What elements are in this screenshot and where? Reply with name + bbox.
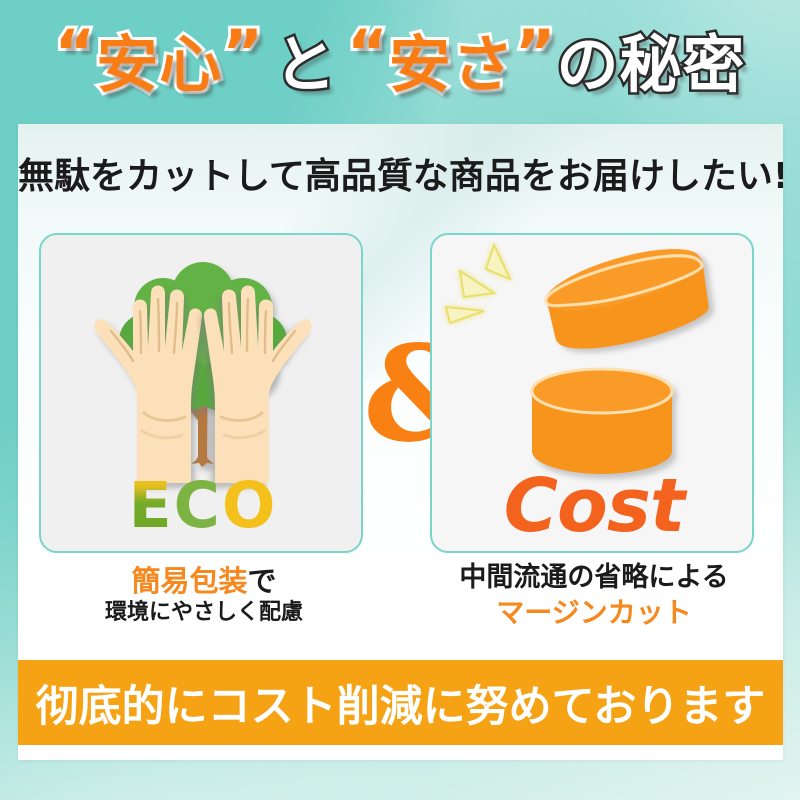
headline-close-quote-2: ” — [515, 22, 557, 84]
headline-tail: の秘密 — [557, 34, 746, 96]
headline-open-quote-2: “ — [347, 22, 389, 84]
coin-stack-icon — [432, 239, 756, 489]
cost-wordmark: Cost — [432, 469, 756, 543]
panel-title: 無駄をカットして高品質な商品をお届けしたい! — [18, 147, 783, 199]
eco-caption-line1: 簡易包装で — [24, 564, 384, 599]
eco-caption-highlight: 簡易包装 — [131, 564, 247, 598]
ampersand-separator: & — [363, 329, 439, 461]
eco-wordmark: ECO — [41, 474, 365, 537]
eco-letter-e: E — [129, 469, 174, 542]
feature-cards: ECO & — [18, 233, 783, 553]
bottom-banner: 彻底的にコスト削減に努めております — [18, 660, 783, 745]
eco-caption-line2: 環境にやさしく配慮 — [24, 599, 384, 628]
headline-word-anshin: 安心 — [96, 34, 222, 96]
eco-card: ECO — [39, 233, 363, 553]
cost-caption-line1: 中間流通の省略による — [414, 562, 774, 595]
headline-conjunction: と — [274, 34, 337, 96]
cost-caption: 中間流通の省略による マージンカット — [414, 562, 774, 631]
cost-caption-line2: マージンカット — [414, 595, 774, 631]
headline-open-quote-1: “ — [54, 22, 96, 84]
headline-close-quote-1: ” — [222, 22, 264, 84]
eco-letter-o: O — [222, 469, 278, 542]
bottom-banner-text: 彻底的にコスト削減に努めております — [36, 672, 766, 734]
headline-word-yasusa: 安さ — [389, 34, 515, 96]
hands-holding-tree-icon — [41, 245, 365, 495]
eco-caption: 簡易包装で 環境にやさしく配慮 — [24, 564, 384, 628]
eco-letter-c: C — [174, 469, 222, 542]
cost-card: Cost — [430, 233, 754, 553]
eco-caption-rest: で — [248, 564, 277, 598]
promo-banner: “安心”と“安さ”の秘密 無駄をカットして高品質な商品をお届けしたい! — [0, 0, 800, 800]
headline: “安心”と“安さ”の秘密 — [0, 14, 800, 114]
